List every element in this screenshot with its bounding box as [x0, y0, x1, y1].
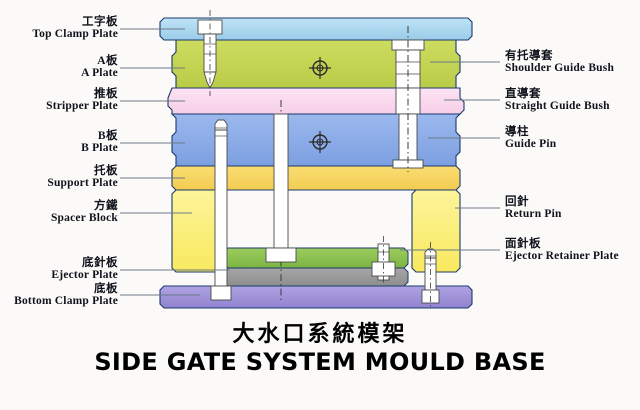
- label-support-plate: 托板 Support Plate: [0, 165, 118, 189]
- socket-screw-bottom-right: [422, 242, 439, 308]
- label-cn: 方鐵: [0, 200, 118, 212]
- label-ejector-retainer-plate: 面針板 Ejector Retainer Plate: [505, 238, 640, 262]
- label-cn: 有托導套: [505, 50, 640, 62]
- mould-base-diagram-page: 工字板 Top Clamp Plate A板 A Plate 推板 Stripp…: [0, 0, 640, 410]
- label-straight-guide-bush: 直導套 Straight Guide Bush: [505, 88, 640, 112]
- label-cn: 底板: [0, 283, 118, 295]
- label-b-plate: B板 B Plate: [0, 130, 118, 154]
- label-en: Shoulder Guide Bush: [505, 62, 640, 74]
- label-stripper-plate: 推板 Stripper Plate: [0, 88, 118, 112]
- label-shoulder-guide-bush: 有托導套 Shoulder Guide Bush: [505, 50, 640, 74]
- label-en: B Plate: [0, 142, 118, 154]
- diagram-title-en: SIDE GATE SYSTEM MOULD BASE: [0, 348, 640, 376]
- label-cn: 回針: [505, 196, 640, 208]
- label-en: Straight Guide Bush: [505, 100, 640, 112]
- label-return-pin: 回針 Return Pin: [505, 196, 640, 220]
- label-cn: 托板: [0, 165, 118, 177]
- label-cn: 底針板: [0, 257, 118, 269]
- label-en: A Plate: [0, 67, 118, 79]
- label-cn: 面針板: [505, 238, 640, 250]
- label-a-plate: A板 A Plate: [0, 55, 118, 79]
- label-en: Ejector Retainer Plate: [505, 250, 640, 262]
- label-bottom-clamp-plate: 底板 Bottom Clamp Plate: [0, 283, 118, 307]
- label-en: Support Plate: [0, 177, 118, 189]
- label-en: Top Clamp Plate: [0, 28, 118, 40]
- label-cn: A板: [0, 55, 118, 67]
- label-en: Ejector Plate: [0, 269, 118, 281]
- label-top-clamp-plate: 工字板 Top Clamp Plate: [0, 16, 118, 40]
- spacer-block: [172, 190, 220, 272]
- label-cn: B板: [0, 130, 118, 142]
- label-cn: 導柱: [505, 126, 640, 138]
- label-en: Guide Pin: [505, 138, 640, 150]
- diagram-title-cn: 大水口系統模架: [0, 316, 640, 348]
- label-en: Return Pin: [505, 208, 640, 220]
- label-cn: 直導套: [505, 88, 640, 100]
- label-cn: 推板: [0, 88, 118, 100]
- diagram-title-en-wrap: SIDE GATE SYSTEM MOULD BASE: [0, 348, 640, 376]
- label-en: Stripper Plate: [0, 100, 118, 112]
- diagram-title-cn-wrap: 大水口系統模架: [0, 316, 640, 348]
- label-en: Spacer Block: [0, 212, 118, 224]
- label-en: Bottom Clamp Plate: [0, 295, 118, 307]
- label-cn: 工字板: [0, 16, 118, 28]
- label-spacer-block: 方鐵 Spacer Block: [0, 200, 118, 224]
- label-ejector-plate: 底針板 Ejector Plate: [0, 257, 118, 281]
- label-guide-pin: 導柱 Guide Pin: [505, 126, 640, 150]
